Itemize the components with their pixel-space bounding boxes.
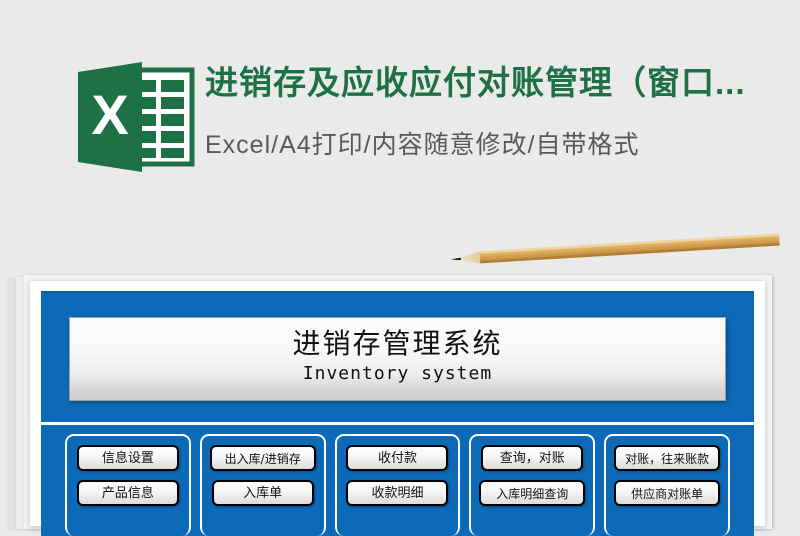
document-subtitle: Excel/A4打印/内容随意修改/自带格式 (205, 128, 800, 162)
menu-column-inventory-in-out: 出入库/进销存 入库单 (200, 434, 326, 536)
svg-text:X: X (91, 83, 128, 146)
menu-button-receipt-details[interactable]: 收款明细 (346, 480, 448, 506)
system-title-cn: 进销存管理系统 (70, 326, 725, 362)
menu-button-reconcile-current-accounts[interactable]: 对账，往来账款 (614, 445, 720, 471)
menu-column-info-settings: 信息设置 产品信息 (65, 434, 191, 536)
system-title-plate: 进销存管理系统 Inventory system (69, 317, 726, 401)
menu-button-receipts-payments[interactable]: 收付款 (346, 445, 448, 471)
menu-button-product-info[interactable]: 产品信息 (77, 480, 179, 506)
excel-logo-icon: X (68, 58, 196, 176)
panel-divider (41, 422, 754, 425)
menu-column-receipts-payments: 收付款 收款明细 (335, 434, 461, 536)
title-block: 进销存及应收应付对账管理（窗口... Excel/A4打印/内容随意修改/自带格… (205, 60, 800, 162)
document-title: 进销存及应收应付对账管理（窗口... (205, 60, 800, 106)
menu-button-supplier-statement[interactable]: 供应商对账单 (614, 480, 720, 506)
menu-button-in-out-inventory[interactable]: 出入库/进销存 (210, 445, 316, 471)
menu-button-grid: 信息设置 产品信息 出入库/进销存 入库单 收付款 收款明细 查询，对账 入库明… (65, 434, 730, 536)
menu-button-inbound-detail-query[interactable]: 入库明细查询 (479, 480, 585, 506)
document-preview-card[interactable]: 进销存管理系统 Inventory system 信息设置 产品信息 出入库/进… (30, 281, 765, 526)
menu-button-info-settings[interactable]: 信息设置 (77, 445, 179, 471)
menu-button-inbound-order[interactable]: 入库单 (212, 480, 314, 506)
menu-column-reconcile-current-accounts: 对账，往来账款 供应商对账单 (604, 434, 730, 536)
system-title-en: Inventory system (70, 362, 725, 386)
menu-column-query-reconcile: 查询，对账 入库明细查询 (469, 434, 595, 536)
page-header: X 进销存及应收应付对账管理（窗口... Excel/A4打印/内容随意修改/自… (0, 0, 800, 236)
system-panel: 进销存管理系统 Inventory system 信息设置 产品信息 出入库/进… (41, 291, 754, 536)
excel-logo: X (68, 58, 196, 176)
menu-button-query-reconcile[interactable]: 查询，对账 (481, 445, 583, 471)
